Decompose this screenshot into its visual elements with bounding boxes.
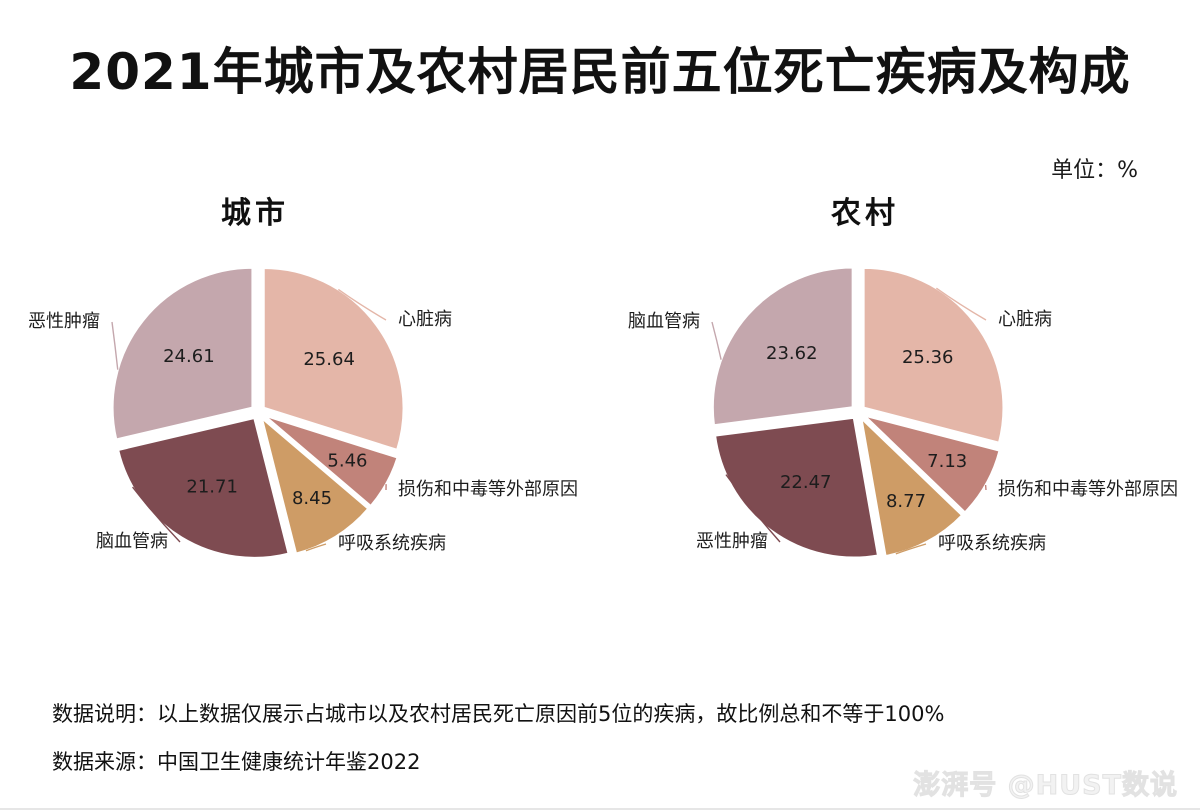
pie-panel-rural: 农村 25.36心脏病7.13损伤和中毒等外部原因8.77呼吸系统疾病22.47… <box>600 180 1200 610</box>
pie-slice-label[interactable]: 恶性肿瘤 <box>28 311 100 332</box>
pie-slice-value: 25.36 <box>902 347 954 368</box>
pie-slice-value: 24.61 <box>163 346 215 367</box>
pie-slice-label[interactable]: 损伤和中毒等外部原因 <box>398 479 578 500</box>
pie-leader-line <box>712 322 721 360</box>
page-title: 2021年城市及农村居民前五位死亡疾病及构成 <box>0 32 1200 104</box>
pie-slice-value: 7.13 <box>927 451 967 472</box>
pie-slice-value: 8.77 <box>886 491 926 512</box>
watermark: 澎湃号 @HUST数说 <box>913 763 1178 802</box>
pie-slice-label[interactable]: 呼吸系统疾病 <box>338 533 446 554</box>
pie-slice-label[interactable]: 呼吸系统疾病 <box>938 533 1046 554</box>
pie-leader-line <box>112 322 118 370</box>
pie-slice-value: 21.71 <box>186 476 238 497</box>
pie-slice-label[interactable]: 心脏病 <box>998 309 1052 330</box>
pie-slice-label[interactable]: 损伤和中毒等外部原因 <box>998 479 1178 500</box>
pie-slice-value: 25.64 <box>303 349 355 370</box>
pie-slice-label[interactable]: 脑血管病 <box>628 311 700 332</box>
footnote-description: 数据说明：以上数据仅展示占城市以及农村居民死亡原因前5位的疾病，故比例总和不等于… <box>52 698 944 728</box>
pie-slice-label[interactable]: 心脏病 <box>398 309 452 330</box>
pie-slice-value: 22.47 <box>780 472 832 493</box>
pie-slice-label[interactable]: 脑血管病 <box>96 531 168 552</box>
pie-slice-label[interactable]: 恶性肿瘤 <box>696 531 768 552</box>
pie-slice-value: 23.62 <box>766 343 818 364</box>
chart-page: 2021年城市及农村居民前五位死亡疾病及构成 单位：% 城市 25.64心脏病5… <box>0 0 1200 808</box>
footnote-source: 数据来源：中国卫生健康统计年鉴2022 <box>52 746 420 776</box>
pie-slice-value: 8.45 <box>292 488 332 509</box>
pie-panel-city: 城市 25.64心脏病5.46损伤和中毒等外部原因8.45呼吸系统疾病21.71… <box>0 180 600 610</box>
pie-chart-rural: 25.36心脏病7.13损伤和中毒等外部原因8.77呼吸系统疾病22.47恶性肿… <box>600 180 1200 610</box>
pie-slice-value: 5.46 <box>327 450 367 471</box>
pie-chart-city: 25.64心脏病5.46损伤和中毒等外部原因8.45呼吸系统疾病21.71脑血管… <box>0 180 600 610</box>
